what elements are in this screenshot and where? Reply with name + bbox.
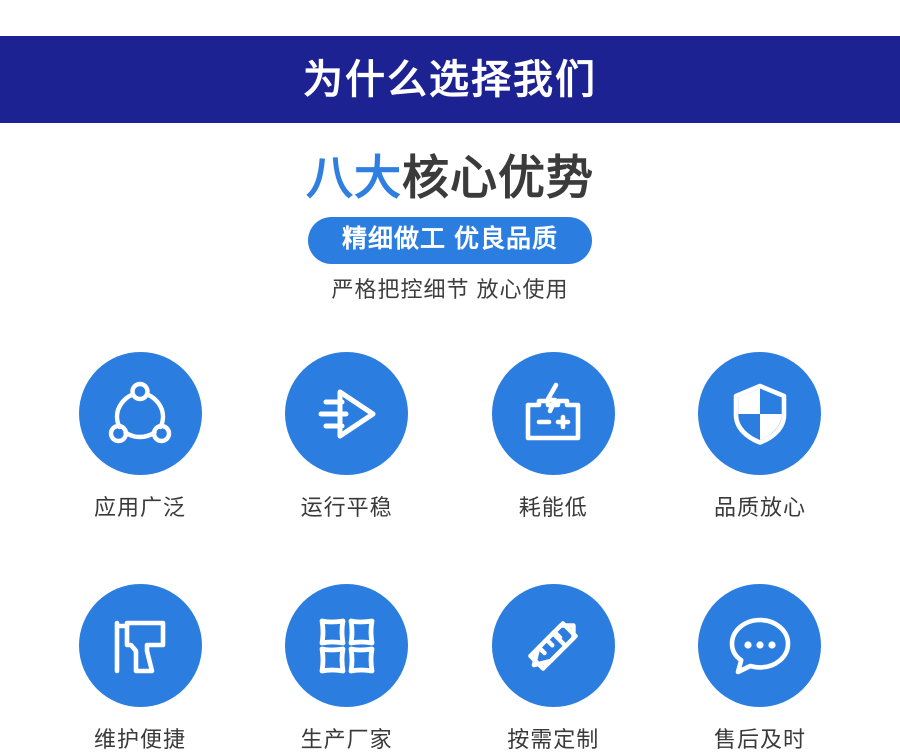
share-network-icon xyxy=(104,378,176,450)
feature-label: 运行平稳 xyxy=(301,495,393,521)
quality-badge: 精细做工 优良品质 xyxy=(308,217,592,264)
feature-item-quality-assurance[interactable]: 品质放心 xyxy=(698,352,822,521)
fast-forward-arrow-icon xyxy=(311,378,383,450)
feature-row: 应用广泛 运行平稳 xyxy=(0,352,900,521)
feature-item-after-sales-support[interactable]: 售后及时 xyxy=(698,584,822,753)
feature-row: 维护便捷 生产厂家 xyxy=(0,584,900,753)
feature-grid: 应用广泛 运行平稳 xyxy=(0,352,900,754)
feature-label: 生产厂家 xyxy=(301,727,393,753)
power-drill-icon xyxy=(105,611,175,681)
icon-circle xyxy=(698,352,821,475)
page-title: 八大核心优势 xyxy=(0,150,900,205)
feature-label: 耗能低 xyxy=(519,495,588,521)
feature-label: 应用广泛 xyxy=(94,495,186,521)
feature-label: 售后及时 xyxy=(714,727,806,753)
feature-label: 维护便捷 xyxy=(94,727,186,753)
pencil-ruler-icon xyxy=(518,611,588,681)
feature-label: 按需定制 xyxy=(507,727,599,753)
page-title-rest: 核心优势 xyxy=(402,151,594,204)
battery-charge-icon xyxy=(517,378,589,450)
headline-section: 八大核心优势 精细做工 优良品质 严格把控细节 放心使用 xyxy=(0,150,900,304)
icon-circle xyxy=(492,352,615,475)
feature-label: 品质放心 xyxy=(714,495,806,521)
icon-circle xyxy=(285,584,408,707)
feature-item-low-energy[interactable]: 耗能低 xyxy=(491,352,615,521)
page-title-accent: 八大 xyxy=(306,151,402,204)
icon-circle xyxy=(79,584,202,707)
page-subtitle: 严格把控细节 放心使用 xyxy=(0,277,900,303)
feature-item-easy-maintenance[interactable]: 维护便捷 xyxy=(78,584,202,753)
icon-circle xyxy=(79,352,202,475)
feature-item-application[interactable]: 应用广泛 xyxy=(78,352,202,521)
shield-quality-icon xyxy=(724,378,796,450)
banner-title: 为什么选择我们 xyxy=(303,60,597,100)
page-header-banner: 为什么选择我们 xyxy=(0,36,900,123)
icon-circle xyxy=(285,352,408,475)
chat-bubble-dots-icon xyxy=(725,611,795,681)
icon-circle xyxy=(698,584,821,707)
four-square-grid-icon xyxy=(312,611,382,681)
badge-row: 精细做工 优良品质 xyxy=(0,217,900,264)
feature-item-smooth-operation[interactable]: 运行平稳 xyxy=(285,352,409,521)
feature-item-manufacturer[interactable]: 生产厂家 xyxy=(285,584,409,753)
icon-circle xyxy=(492,584,615,707)
feature-item-custom-made[interactable]: 按需定制 xyxy=(491,584,615,753)
